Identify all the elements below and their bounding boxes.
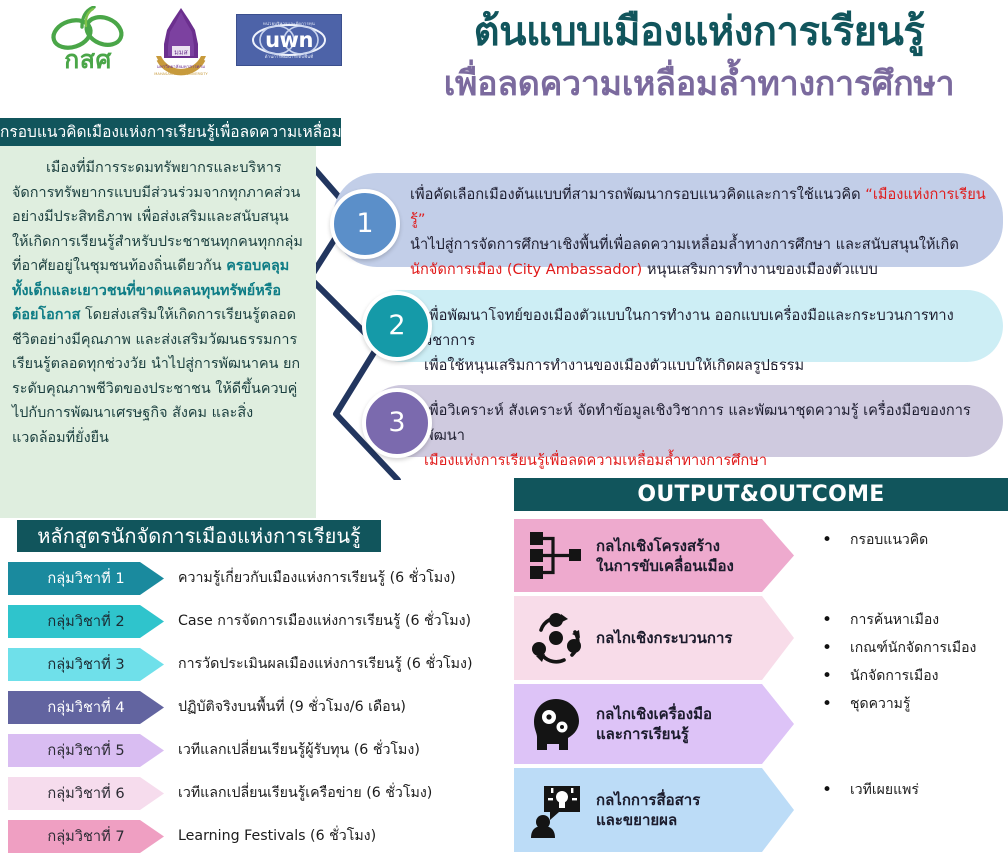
- curriculum-row-label: Learning Festivals (6 ชั่วโมง): [178, 820, 376, 853]
- objective-number-3: 3: [362, 388, 432, 458]
- curriculum-row-label: Case การจัดการเมืองแห่งการเรียนรู้ (6 ชั…: [178, 605, 471, 638]
- title-line-1: ต้นแบบเมืองแห่งการเรียนรู้: [390, 4, 1008, 60]
- kosok-logo: กสศ: [42, 6, 134, 80]
- objective-text-2: เพื่อพัฒนาโจทย์ของเมืองตัวแบบในการทำงาน …: [424, 303, 994, 378]
- svg-text:มหาวิทยาลัยมหาสารคาม: มหาวิทยาลัยมหาสารคาม: [157, 64, 205, 70]
- outcome-row: กลไกเชิงโครงสร้างในการขับเคลื่อนเมือง: [514, 519, 1008, 592]
- obj1-line2: นำไปสู่การจัดการศึกษาเชิงพื้นที่เพื่อลดค…: [410, 232, 992, 257]
- org-chart-icon: [528, 528, 584, 584]
- curriculum-row-tag: กลุ่มวิชาที่ 5: [8, 734, 164, 767]
- svg-text:MAHASARAKHAM UNIVERSITY: MAHASARAKHAM UNIVERSITY: [154, 72, 208, 76]
- objective-text-1: เพื่อคัดเลือกเมืองต้นแบบที่สามารถพัฒนากร…: [410, 182, 992, 282]
- outcome-row-title-line1: กลไกเชิงโครงสร้าง: [596, 536, 734, 556]
- outcome-row-title-line2: และการเรียนรู้: [596, 724, 712, 744]
- person-speech-idea-icon: [528, 782, 584, 838]
- outcome-section: OUTPUT&OUTCOME กลไกเชิงโครงสร้างในการขับ…: [514, 478, 1008, 844]
- outcome-bullet-item: เวทีเผยแพร่: [812, 776, 919, 804]
- uwn-bottom-text: ด้านการพัฒนาระดับพื้นที่: [237, 53, 341, 60]
- outcome-bullet-list: เวทีเผยแพร่: [812, 776, 919, 804]
- curriculum-row-label: ความรู้เกี่ยวกับเมืองแห่งการเรียนรู้ (6 …: [178, 562, 456, 595]
- concept-panel: กรอบแนวคิดเมืองแห่งการเรียนรู้เพื่อลดควา…: [0, 118, 341, 518]
- obj2-line2: เพื่อใช้หนุนเสริมการทำงานของเมืองตัวแบบใ…: [424, 353, 994, 378]
- curriculum-row-tag: กลุ่มวิชาที่ 4: [8, 691, 164, 724]
- outcome-bullet-list: การค้นหาเมืองเกณฑ์นักจัดการเมืองนักจัดกา…: [812, 606, 976, 690]
- curriculum-row-tag: กลุ่มวิชาที่ 6: [8, 777, 164, 810]
- outcome-bullet-list: ชุดความรู้: [812, 690, 910, 718]
- outcome-row-title: กลไกการสื่อสารและขยายผล: [596, 790, 700, 830]
- curriculum-row: กลุ่มวิชาที่ 7Learning Festivals (6 ชั่ว…: [8, 820, 508, 860]
- university-seal-logo: มมส มหาวิทยาลัยมหาสารคาม MAHASARAKHAM UN…: [148, 6, 214, 80]
- concept-panel-body: เมืองที่มีการระดมทรัพยากรและบริหารจัดการ…: [0, 146, 316, 518]
- outcome-row-title: กลไกเชิงเครื่องมือและการเรียนรู้: [596, 704, 712, 744]
- curriculum-row-tag: กลุ่มวิชาที่ 2: [8, 605, 164, 638]
- curriculum-row-label: เวทีแลกเปลี่ยนเรียนรู้ผู้รับทุน (6 ชั่วโ…: [178, 734, 420, 767]
- outcome-bullet-list: กรอบแนวคิด: [812, 526, 928, 554]
- outcome-row-title-line1: กลไกการสื่อสาร: [596, 790, 700, 810]
- outcome-row-title-line2: และขยายผล: [596, 810, 700, 830]
- outcome-row: กลไกเชิงเครื่องมือและการเรียนรู้: [514, 684, 1008, 764]
- kosok-logo-text: กสศ: [42, 40, 134, 80]
- obj1-line3b: หนุนเสริมการทำงานของเมืองตัวแบบ: [642, 261, 878, 278]
- page-title: ต้นแบบเมืองแห่งการเรียนรู้ เพื่อลดความเห…: [390, 4, 1008, 108]
- concept-panel-header: กรอบแนวคิดเมืองแห่งการเรียนรู้เพื่อลดควา…: [0, 118, 341, 146]
- curriculum-row-tag: กลุ่มวิชาที่ 3: [8, 648, 164, 681]
- obj2-line1: เพื่อพัฒนาโจทย์ของเมืองตัวแบบในการทำงาน …: [424, 303, 994, 353]
- outcome-row-title: กลไกเชิงโครงสร้างในการขับเคลื่อนเมือง: [596, 536, 734, 576]
- concept-text-part1: เมืองที่มีการระดมทรัพยากรและบริหารจัดการ…: [12, 160, 303, 274]
- uwn-main-text: uwn: [237, 28, 341, 52]
- outcome-row: กลไกการสื่อสารและขยายผล: [514, 768, 1008, 852]
- curriculum-row-label: ปฏิบัติจริงบนพื้นที่ (9 ชั่วโมง/6 เดือน): [178, 691, 406, 724]
- outcome-bullet-item: ชุดความรู้: [812, 690, 910, 718]
- obj3-line3: เมืองแห่งการเรียนรู้เพื่อลดความเหลื่อมล้…: [424, 448, 994, 473]
- objective-text-3: เพื่อวิเคราะห์ สังเคราะห์ จัดทำข้อมูลเชิ…: [424, 398, 994, 473]
- uwn-logo: หน่วยบริหารและจัดการทุน uwn ด้านการพัฒนา…: [236, 14, 342, 66]
- obj1-line3a: นักจัดการเมือง (City Ambassador): [410, 261, 642, 278]
- concept-paragraph: เมืองที่มีการระดมทรัพยากรและบริหารจัดการ…: [12, 156, 304, 450]
- head-gears-icon: [528, 696, 584, 752]
- outcome-header: OUTPUT&OUTCOME: [514, 478, 1008, 511]
- outcome-row-banner: กลไกเชิงกระบวนการ: [514, 596, 794, 680]
- concept-text-part2: โดยส่งเสริมให้เกิดการเรียนรู้ตลอดชีวิตอย…: [12, 307, 300, 446]
- svg-text:มมส: มมส: [174, 49, 188, 57]
- logo-strip: กสศ มมส มหาวิทยาลัยมหาสารคาม MAHASARAKHA…: [0, 0, 395, 92]
- curriculum-row-label: เวทีแลกเปลี่ยนเรียนรู้เครือข่าย (6 ชั่วโ…: [178, 777, 432, 810]
- outcome-row-title-line2: ในการขับเคลื่อนเมือง: [596, 556, 734, 576]
- curriculum-row-tag: กลุ่มวิชาที่ 7: [8, 820, 164, 853]
- outcome-row-banner: กลไกเชิงโครงสร้างในการขับเคลื่อนเมือง: [514, 519, 794, 592]
- curriculum-row: กลุ่มวิชาที่ 5เวทีแลกเปลี่ยนเรียนรู้ผู้ร…: [8, 734, 508, 774]
- outcome-bullet-item: กรอบแนวคิด: [812, 526, 928, 554]
- curriculum-row-label: การวัดประเมินผลเมืองแห่งการเรียนรู้ (6 ช…: [178, 648, 472, 681]
- curriculum-row-tag: กลุ่มวิชาที่ 1: [8, 562, 164, 595]
- outcome-row-title-line1: กลไกเชิงเครื่องมือ: [596, 704, 712, 724]
- outcome-row-title-line1: กลไกเชิงกระบวนการ: [596, 628, 733, 648]
- outcome-bullet-item: การค้นหาเมือง: [812, 606, 976, 634]
- curriculum-row: กลุ่มวิชาที่ 1ความรู้เกี่ยวกับเมืองแห่งก…: [8, 562, 508, 602]
- outcome-bullet-item: เกณฑ์นักจัดการเมือง: [812, 634, 976, 662]
- curriculum-header: หลักสูตรนักจัดการเมืองแห่งการเรียนรู้: [17, 520, 381, 552]
- outcome-row-banner: กลไกเชิงเครื่องมือและการเรียนรู้: [514, 684, 794, 764]
- obj3-line1: เพื่อวิเคราะห์ สังเคราะห์ จัดทำข้อมูลเชิ…: [424, 398, 994, 448]
- outcome-row-title: กลไกเชิงกระบวนการ: [596, 628, 733, 648]
- curriculum-row: กลุ่มวิชาที่ 4ปฏิบัติจริงบนพื้นที่ (9 ชั…: [8, 691, 508, 731]
- title-line-2: เพื่อลดความเหลื่อมล้ำทางการศึกษา: [390, 60, 1008, 108]
- objective-number-2: 2: [362, 291, 432, 361]
- curriculum-row: กลุ่มวิชาที่ 3การวัดประเมินผลเมืองแห่งกา…: [8, 648, 508, 688]
- curriculum-row: กลุ่มวิชาที่ 2Case การจัดการเมืองแห่งการ…: [8, 605, 508, 645]
- obj1-line1a: เพื่อคัดเลือกเมืองต้นแบบที่สามารถพัฒนากร…: [410, 186, 865, 203]
- curriculum-row: กลุ่มวิชาที่ 6เวทีแลกเปลี่ยนเรียนรู้เครื…: [8, 777, 508, 817]
- process-gear-icon: [528, 610, 584, 666]
- university-seal-icon: มมส มหาวิทยาลัยมหาสารคาม MAHASARAKHAM UN…: [148, 6, 214, 80]
- outcome-row-banner: กลไกการสื่อสารและขยายผล: [514, 768, 794, 852]
